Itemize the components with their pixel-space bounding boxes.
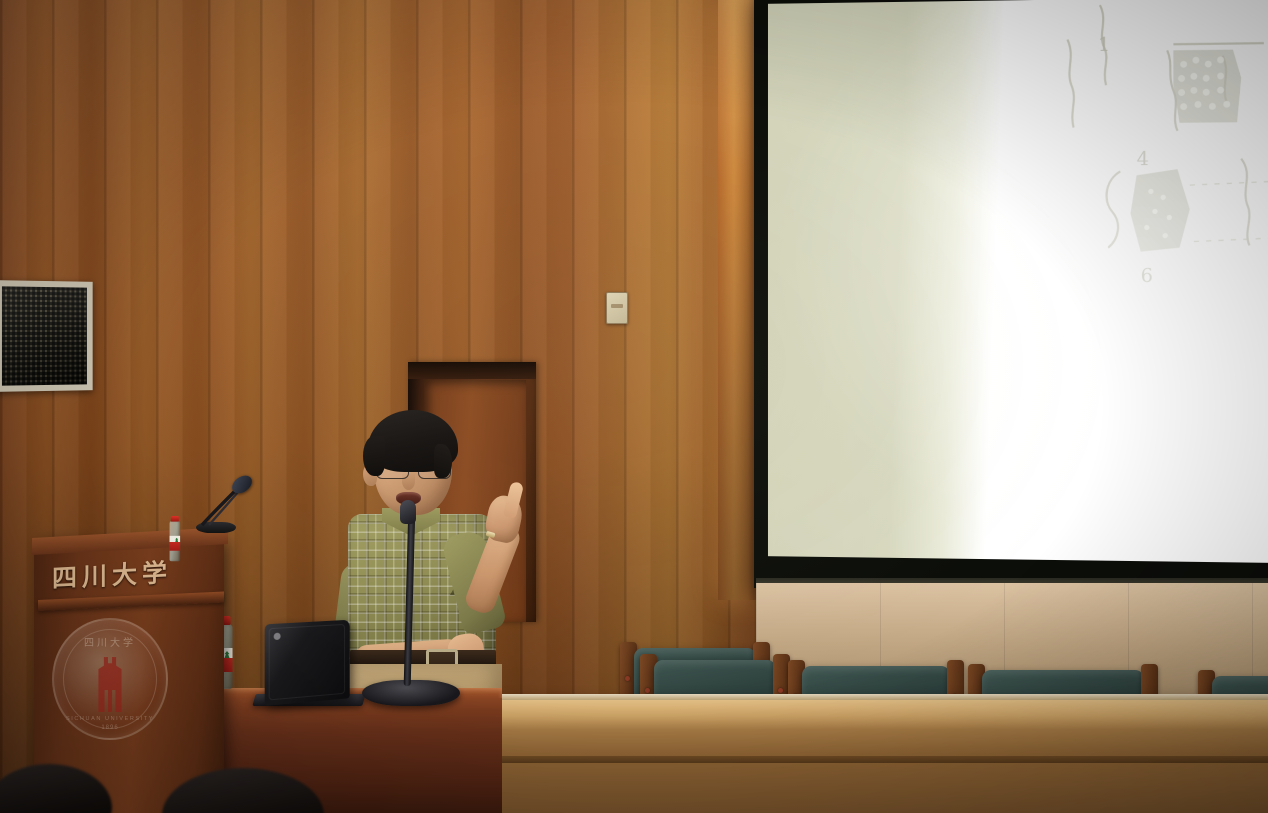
- lecture-hall-photo: 1 4 6: [0, 0, 1268, 813]
- seal-text-chinese: 四川大学: [54, 634, 166, 649]
- laptop-lid[interactable]: [265, 620, 350, 706]
- slide-figure-number-4: 4: [1137, 149, 1149, 171]
- bottle-cap: [171, 516, 179, 522]
- university-seal: 四川大学 SICHUAN UNIVERSITY 1896: [52, 618, 168, 740]
- projection-screen-surface: 1 4 6: [768, 0, 1268, 563]
- slide-figure-number-6: 6: [1141, 265, 1153, 286]
- hvac-vent-icon: [0, 280, 93, 392]
- water-bottle[interactable]: [168, 516, 182, 546]
- slide-artwork-pottery-drawings: 1 4 6: [768, 0, 1268, 563]
- desk-microphone-base[interactable]: [362, 680, 460, 706]
- wood-panel-highlight-strip: [718, 0, 758, 600]
- projection-screen-frame: 1 4 6: [754, 0, 1268, 596]
- light-switch-icon[interactable]: [606, 292, 628, 324]
- lectern-nameplate: 四川大学: [52, 553, 172, 595]
- bottle-label: [170, 536, 181, 551]
- laptop-logo-icon: [274, 633, 281, 641]
- seal-text-english: SICHUAN UNIVERSITY: [54, 716, 166, 722]
- slide-figure-number-1: 1: [1098, 35, 1110, 57]
- desk-microphone-capsule-icon: [400, 500, 416, 524]
- panel-table-edge: [488, 756, 1268, 763]
- presenter-sideburn: [434, 444, 452, 478]
- seal-founding-year: 1896: [54, 725, 166, 731]
